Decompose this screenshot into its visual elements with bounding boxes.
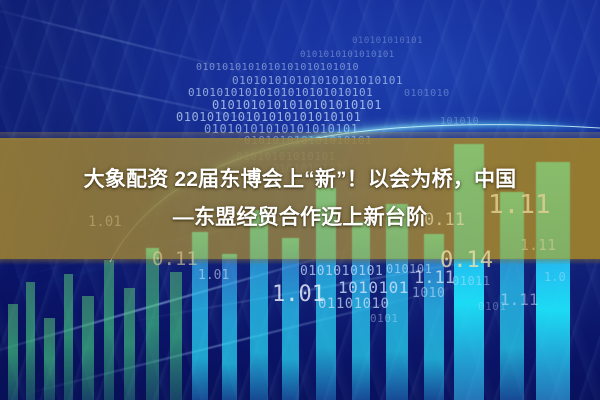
- headline-line-1: 大象配资 22届东博会上“新”！以会为桥，中国: [0, 166, 600, 193]
- ticker-value: 1.11: [520, 236, 556, 254]
- ticker-value: 1.01: [272, 282, 325, 307]
- headline-line-2: —东盟经贸合作迈上新台阶: [0, 204, 600, 231]
- ticker-value: 0.11: [152, 248, 198, 270]
- price-ticker-numbers: 1.110.110.141.110.111.011.011.111.011.11…: [0, 0, 600, 400]
- article-thumbnail-image: 0101010101010101010101010010101010101010…: [0, 0, 600, 400]
- ticker-value: 1.0: [544, 270, 566, 284]
- ticker-value: 0.14: [440, 248, 493, 273]
- ticker-value: 1.01: [198, 268, 229, 283]
- ticker-value: 1.11: [414, 268, 455, 288]
- ticker-value: 1.11: [500, 290, 539, 309]
